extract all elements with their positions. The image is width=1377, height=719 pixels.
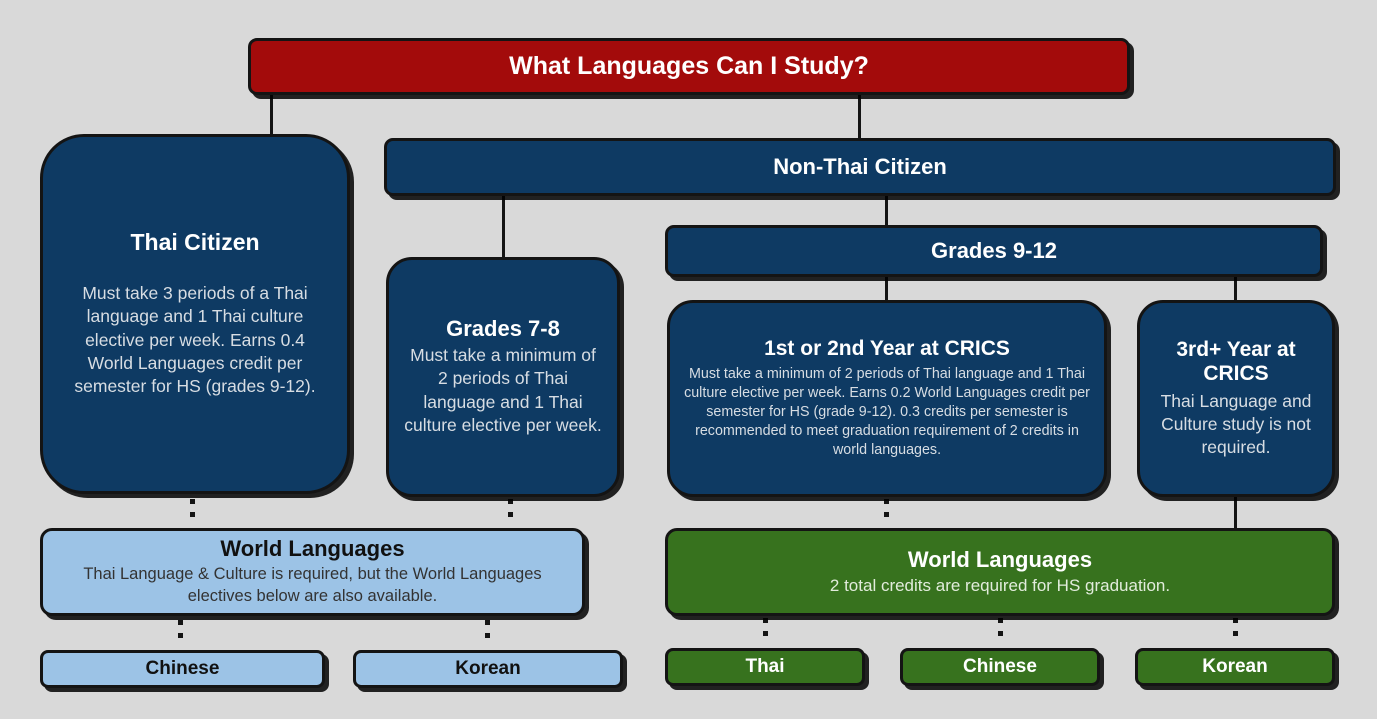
leaf-node-thai-green-label: Thai [678,656,852,678]
dotted-connector-wl-right-to-chinese [998,618,1003,646]
root-node-what-languages-can-i-study[interactable]: What Languages Can I Study? [248,38,1130,95]
node-world-languages-non-thai-citizen[interactable]: World Languages 2 total credits are requ… [665,528,1335,616]
node-crics-year-3-plus[interactable]: 3rd+ Year at CRICS Thai Language and Cul… [1137,300,1335,497]
dotted-connector-wl-left-to-chinese [178,620,183,648]
flowchart-canvas: What Languages Can I Study? Thai Citizen… [0,0,1377,719]
root-node-label: What Languages Can I Study? [261,52,1117,81]
leaf-node-chinese-green[interactable]: Chinese [900,648,1100,686]
node-grades-9-12[interactable]: Grades 9-12 [665,225,1323,277]
node-thai-citizen[interactable]: Thai Citizen Must take 3 periods of a Th… [40,134,350,494]
leaf-node-korean-green-label: Korean [1148,656,1322,678]
connector-crics3-to-wl-right [1234,497,1237,530]
dotted-connector-thai-to-wl-left [190,499,195,527]
leaf-node-korean-blue[interactable]: Korean [353,650,623,688]
node-grades-7-8-body: Must take a minimum of 2 periods of Thai… [403,344,603,438]
dotted-connector-wl-right-to-thai [763,618,768,646]
dotted-connector-wl-left-to-korean [485,620,490,648]
node-crics-year-3-plus-title: 3rd+ Year at CRICS [1152,338,1320,387]
node-non-thai-citizen-title: Non-Thai Citizen [397,154,1323,180]
connector-grades912-to-crics3 [1234,277,1237,302]
connector-nonthai-to-grades78 [502,196,505,259]
node-world-languages-non-thai-citizen-body: 2 total credits are required for HS grad… [682,575,1318,597]
dotted-connector-crics12-to-wl-right [884,499,889,527]
leaf-node-korean-blue-label: Korean [366,658,610,680]
dotted-connector-wl-right-to-korean [1233,618,1238,646]
node-world-languages-thai-citizen[interactable]: World Languages Thai Language & Culture … [40,528,585,616]
dotted-connector-grades78-to-wl-left [508,499,513,527]
node-world-languages-non-thai-citizen-title: World Languages [682,547,1318,573]
leaf-node-chinese-green-label: Chinese [913,656,1087,678]
node-grades-7-8[interactable]: Grades 7-8 Must take a minimum of 2 peri… [386,257,620,497]
node-crics-year-1-or-2-title: 1st or 2nd Year at CRICS [684,337,1090,361]
node-thai-citizen-body: Must take 3 periods of a Thai language a… [61,282,329,399]
connector-nonthai-to-grades912 [885,196,888,227]
node-world-languages-thai-citizen-title: World Languages [57,536,568,562]
leaf-node-thai-green[interactable]: Thai [665,648,865,686]
connector-title-to-nonthai [858,95,861,140]
node-grades-9-12-title: Grades 9-12 [678,238,1310,264]
node-non-thai-citizen[interactable]: Non-Thai Citizen [384,138,1336,196]
leaf-node-chinese-blue-label: Chinese [53,658,312,680]
connector-grades912-to-crics12 [885,277,888,302]
leaf-node-korean-green[interactable]: Korean [1135,648,1335,686]
node-grades-7-8-title: Grades 7-8 [403,316,603,342]
node-thai-citizen-title: Thai Citizen [61,229,329,256]
node-crics-year-1-or-2-body: Must take a minimum of 2 periods of Thai… [684,365,1090,460]
node-world-languages-thai-citizen-body: Thai Language & Culture is required, but… [57,564,568,608]
node-crics-year-3-plus-body: Thai Language and Culture study is not r… [1152,390,1320,459]
leaf-node-chinese-blue[interactable]: Chinese [40,650,325,688]
connector-title-to-thai [270,95,273,136]
node-crics-year-1-or-2[interactable]: 1st or 2nd Year at CRICS Must take a min… [667,300,1107,497]
